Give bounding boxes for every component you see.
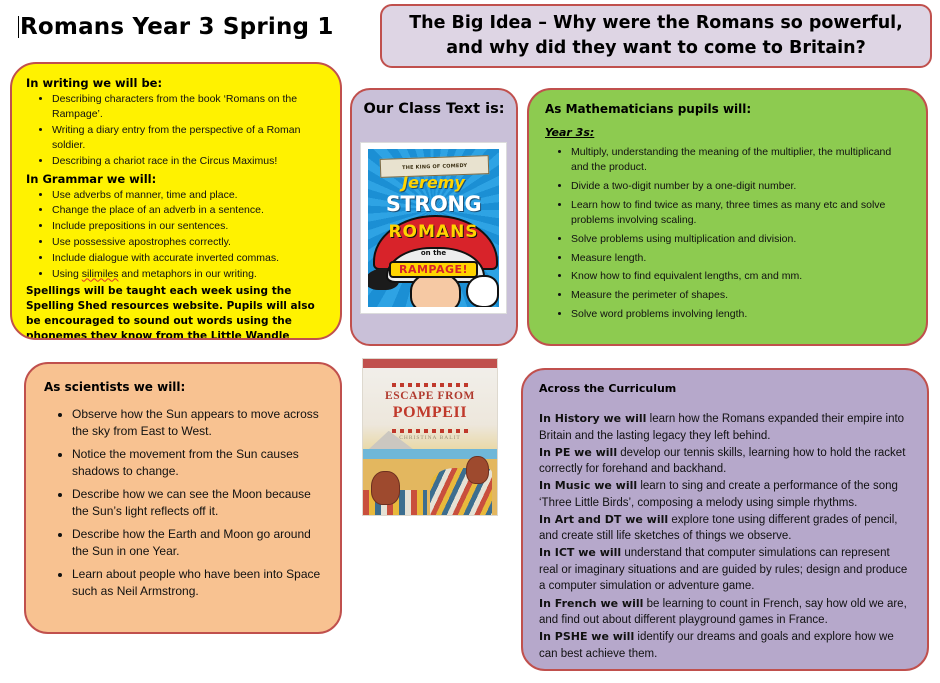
grammar-list: Use adverbs of manner, time and place. C… xyxy=(26,188,326,282)
big-idea-text: The Big Idea – Why were the Romans so po… xyxy=(399,11,913,62)
cover-title-main: ROMANS xyxy=(368,222,499,242)
goat-illustration xyxy=(466,275,499,307)
curriculum-row: In Music we will learn to sing and creat… xyxy=(539,478,911,511)
maths-panel: As Mathematicians pupils will: Year 3s: … xyxy=(527,88,928,346)
big-idea-line-2: and why did they want to come to Britain… xyxy=(409,36,903,61)
escape-from-pompeii-book-cover: ESCAPE FROM POMPEII CHRISTINA BALIT xyxy=(362,358,498,516)
topic-web-page: Romans Year 3 Spring 1 The Big Idea – Wh… xyxy=(0,0,940,683)
cover-title-rampage: RAMPAGE! xyxy=(389,261,478,278)
amphora-illustration xyxy=(371,471,400,504)
list-item: Describe how the Earth and Moon go aroun… xyxy=(72,526,324,560)
page-title: Romans Year 3 Spring 1 xyxy=(18,14,334,40)
curriculum-row: In ICT we will understand that computer … xyxy=(539,545,911,595)
book-cover-art: THE KING OF COMEDY Jeremy STRONG ROMANS … xyxy=(368,149,499,307)
curriculum-heading: Across the Curriculum xyxy=(539,382,911,395)
list-item: Notice the movement from the Sun causes … xyxy=(72,446,324,480)
science-panel: As scientists we will: Observe how the S… xyxy=(24,362,342,634)
pompeii-title-line-2: POMPEII xyxy=(363,404,497,422)
across-the-curriculum-panel: Across the Curriculum In History we will… xyxy=(521,368,929,671)
decorative-dot-row xyxy=(392,429,467,433)
curriculum-subject: In Music we will xyxy=(539,479,637,492)
list-item: Know how to find equivalent lengths, cm … xyxy=(571,269,910,284)
list-item: Describing a chariot race in the Circus … xyxy=(52,154,326,169)
writing-heading: In writing we will be: xyxy=(26,76,326,91)
curriculum-subject: In French we will xyxy=(539,597,643,610)
curriculum-row: In PSHE we will identify our dreams and … xyxy=(539,629,911,662)
pompeii-title-line-1: ESCAPE FROM xyxy=(363,390,497,402)
list-item: Writing a diary entry from the perspecti… xyxy=(52,123,326,154)
grammar-heading: In Grammar we will: xyxy=(26,172,326,187)
decorative-dot-row xyxy=(392,383,467,387)
curriculum-row: In Art and DT we will explore tone using… xyxy=(539,512,911,545)
list-item: Include prepositions in our sentences. xyxy=(52,219,326,234)
grammar-last-prefix: Using xyxy=(52,268,82,280)
english-panel: In writing we will be: Describing charac… xyxy=(10,62,342,340)
list-item: Observe how the Sun appears to move acro… xyxy=(72,406,324,440)
curriculum-subject: In Art and DT we will xyxy=(539,513,668,526)
list-item: Solve problems using multiplication and … xyxy=(571,232,910,247)
big-idea-line-1: The Big Idea – Why were the Romans so po… xyxy=(409,11,903,36)
writing-list: Describing characters from the book ‘Rom… xyxy=(26,92,326,170)
maths-year-group: Year 3s: xyxy=(545,126,910,139)
romans-on-the-rampage-book-cover: THE KING OF COMEDY Jeremy STRONG ROMANS … xyxy=(360,142,507,314)
list-item: Measure length. xyxy=(571,251,910,266)
grammar-last-suffix: and metaphors in our writing. xyxy=(119,268,257,280)
curriculum-row: In PE we will develop our tennis skills,… xyxy=(539,445,911,478)
big-idea-banner: The Big Idea – Why were the Romans so po… xyxy=(380,4,932,68)
maths-heading: As Mathematicians pupils will: xyxy=(545,102,910,118)
list-item: Use adverbs of manner, time and place. xyxy=(52,188,326,203)
curriculum-subject: In History we will xyxy=(539,412,646,425)
curriculum-subject: In ICT we will xyxy=(539,546,621,559)
list-item: Use possessive apostrophes correctly. xyxy=(52,235,326,250)
author-first-name: Jeremy xyxy=(368,173,499,192)
spellcheck-word: silimiles xyxy=(82,268,119,280)
list-item: Solve word problems involving length. xyxy=(571,307,910,322)
science-heading: As scientists we will: xyxy=(44,380,324,396)
curriculum-subject: In PE we will xyxy=(539,446,617,459)
list-item: Divide a two-digit number by a one-digit… xyxy=(571,179,910,194)
list-item: Include dialogue with accurate inverted … xyxy=(52,251,326,266)
list-item-with-spellcheck: Using silimiles and metaphors in our wri… xyxy=(52,267,326,282)
list-item: Measure the perimeter of shapes. xyxy=(571,288,910,303)
text-cursor xyxy=(18,16,19,38)
author-last-name: STRONG xyxy=(368,192,499,216)
curriculum-row: In History we will learn how the Romans … xyxy=(539,411,911,444)
class-text-heading: Our Class Text is: xyxy=(352,101,516,117)
science-list: Observe how the Sun appears to move acro… xyxy=(44,406,324,600)
cover-top-bar xyxy=(363,359,497,368)
list-item: Learn about people who have been into Sp… xyxy=(72,566,324,600)
list-item: Describing characters from the book ‘Rom… xyxy=(52,92,326,123)
curriculum-row: In French we will be learning to count i… xyxy=(539,596,911,629)
amphora-illustration xyxy=(466,456,489,485)
pompeii-author: CHRISTINA BALIT xyxy=(363,435,497,441)
spellings-paragraph: Spellings will be taught each week using… xyxy=(26,284,326,340)
maths-list: Multiply, understanding the meaning of t… xyxy=(545,145,910,323)
page-title-text: Romans Year 3 Spring 1 xyxy=(20,14,334,40)
list-item: Learn how to find twice as many, three t… xyxy=(571,198,910,229)
list-item: Describe how we can see the Moon because… xyxy=(72,486,324,520)
list-item: Change the place of an adverb in a sente… xyxy=(52,203,326,218)
cover-title-sub: on the xyxy=(368,249,499,257)
curriculum-subject: In PSHE we will xyxy=(539,630,634,643)
list-item: Multiply, understanding the meaning of t… xyxy=(571,145,910,176)
